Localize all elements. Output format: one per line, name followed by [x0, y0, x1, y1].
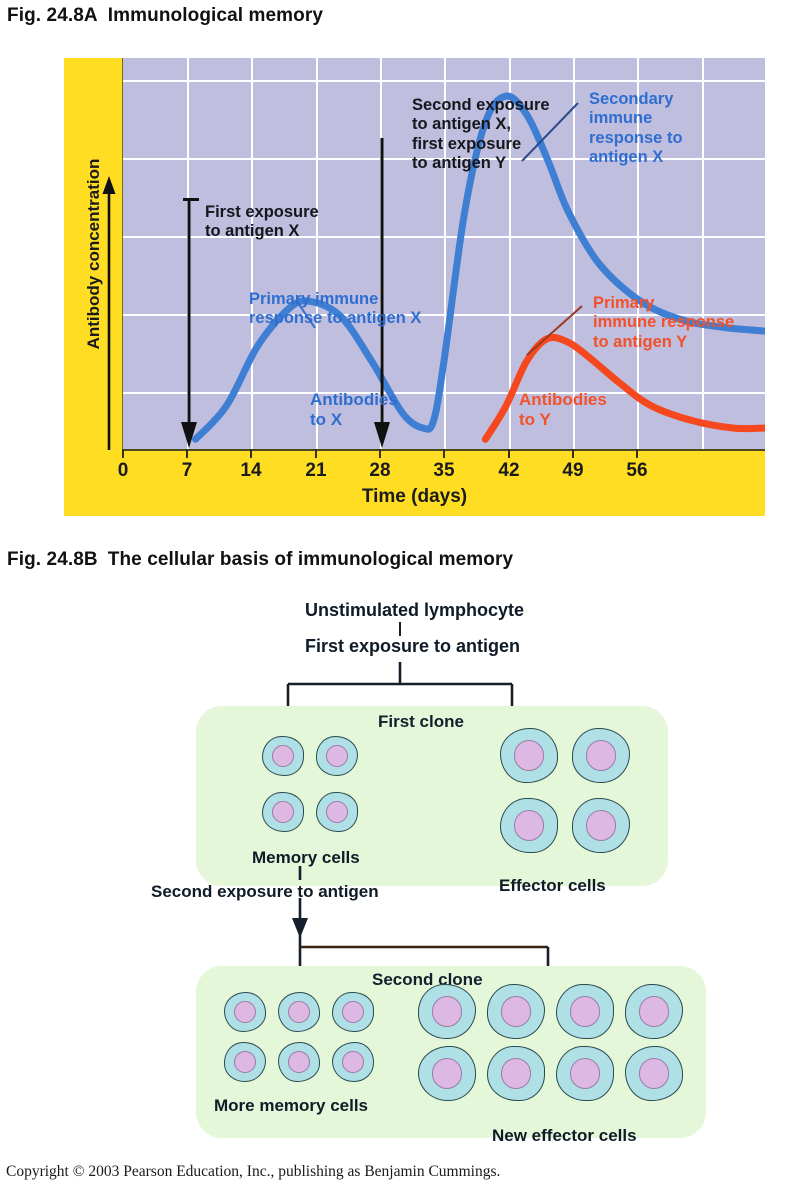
more-memory-cell-1 [224, 992, 266, 1032]
cell-nucleus [234, 1051, 256, 1073]
cell-nucleus [586, 740, 616, 770]
x-tick-49 [572, 449, 574, 458]
more-memory-cell-3 [332, 992, 374, 1032]
new-effector-cell-4 [625, 984, 683, 1039]
more-memory-cell-6 [332, 1042, 374, 1082]
cell-nucleus [639, 1058, 669, 1088]
x-tick-label-49: 49 [562, 460, 583, 482]
x-tick-56 [636, 449, 638, 458]
x-tick-7 [186, 449, 188, 458]
figure-b-number: Fig. 24.8B [7, 549, 98, 570]
new-effector-cell-1 [418, 984, 476, 1039]
cell-nucleus [514, 740, 544, 770]
new-effector-cell-5 [418, 1046, 476, 1101]
cell-nucleus [326, 745, 348, 767]
annotation-primary-response-y: Primary immune response to antigen Y [593, 294, 734, 352]
x-tick-label-35: 35 [433, 460, 454, 482]
cellular-basis-diagram: Unstimulated lymphocyte First exposure t… [0, 588, 800, 1158]
x-tick-label-21: 21 [305, 460, 326, 482]
annotation-primary-response-x: Primary immune response to antigen X [249, 290, 421, 329]
memory-cell-3 [262, 792, 304, 832]
new-effector-cell-3 [556, 984, 614, 1039]
cell-nucleus [432, 996, 462, 1026]
x-tick-35 [443, 449, 445, 458]
more-memory-cell-5 [278, 1042, 320, 1082]
x-tick-14 [250, 449, 252, 458]
cell-nucleus [501, 996, 531, 1026]
first-exposure-arrow-icon [179, 198, 199, 448]
x-tick-42 [508, 449, 510, 458]
x-tick-label-0: 0 [118, 460, 129, 482]
new-effector-cell-7 [556, 1046, 614, 1101]
cell-nucleus [272, 745, 294, 767]
chart-plot-area: First exposure to antigen X Second expos… [123, 58, 765, 449]
cell-nucleus [272, 801, 294, 823]
cell-nucleus [342, 1051, 364, 1073]
x-tick-0 [122, 449, 124, 458]
cell-nucleus [432, 1058, 462, 1088]
x-tick-21 [315, 449, 317, 458]
cell-nucleus [342, 1001, 364, 1023]
y-axis-arrow-icon [100, 176, 118, 450]
cell-nucleus [501, 1058, 531, 1088]
effector-cell-2 [572, 728, 630, 783]
memory-cell-1 [262, 736, 304, 776]
new-effector-cell-2 [487, 984, 545, 1039]
cell-layer [0, 588, 800, 1158]
x-tick-label-56: 56 [626, 460, 647, 482]
annotation-antibodies-to-y: Antibodies to Y [519, 390, 607, 430]
x-tick-label-28: 28 [369, 460, 390, 482]
more-memory-cell-2 [278, 992, 320, 1032]
x-tick-label-42: 42 [498, 460, 519, 482]
figure-b-title-text: The cellular basis of immunological memo… [108, 549, 513, 570]
cell-nucleus [514, 810, 544, 840]
x-tick-label-14: 14 [240, 460, 261, 482]
annotation-first-exposure: First exposure to antigen X [205, 203, 319, 242]
new-effector-cell-8 [625, 1046, 683, 1101]
annotation-second-exposure: Second exposure to antigen X, first expo… [412, 96, 550, 174]
new-effector-cell-6 [487, 1046, 545, 1101]
cell-nucleus [570, 996, 600, 1026]
figure-page: Fig. 24.8AImmunological memory Antibody … [0, 0, 800, 1194]
effector-cell-4 [572, 798, 630, 853]
x-tick-28 [379, 449, 381, 458]
cell-nucleus [326, 801, 348, 823]
effector-cell-1 [500, 728, 558, 783]
antibody-concentration-chart: Antibody concentration [64, 58, 765, 516]
annotation-antibodies-to-x: Antibodies to X [310, 390, 398, 430]
copyright-notice: Copyright © 2003 Pearson Education, Inc.… [6, 1163, 500, 1181]
cell-nucleus [288, 1001, 310, 1023]
x-tick-label-7: 7 [182, 460, 193, 482]
first-exposure-arrow-cap [183, 198, 199, 201]
cell-nucleus [570, 1058, 600, 1088]
x-axis-title: Time (days) [64, 486, 765, 508]
cell-nucleus [586, 810, 616, 840]
figure-a-title-text: Immunological memory [108, 5, 323, 26]
cell-nucleus [234, 1001, 256, 1023]
memory-cell-4 [316, 792, 358, 832]
annotation-secondary-response-x: Secondary immune response to antigen X [589, 90, 683, 168]
cell-nucleus [288, 1051, 310, 1073]
figure-b-title: Fig. 24.8BThe cellular basis of immunolo… [7, 549, 513, 571]
figure-a-title: Fig. 24.8AImmunological memory [7, 5, 323, 27]
figure-a-number: Fig. 24.8A [7, 5, 98, 26]
effector-cell-3 [500, 798, 558, 853]
more-memory-cell-4 [224, 1042, 266, 1082]
memory-cell-2 [316, 736, 358, 776]
cell-nucleus [639, 996, 669, 1026]
